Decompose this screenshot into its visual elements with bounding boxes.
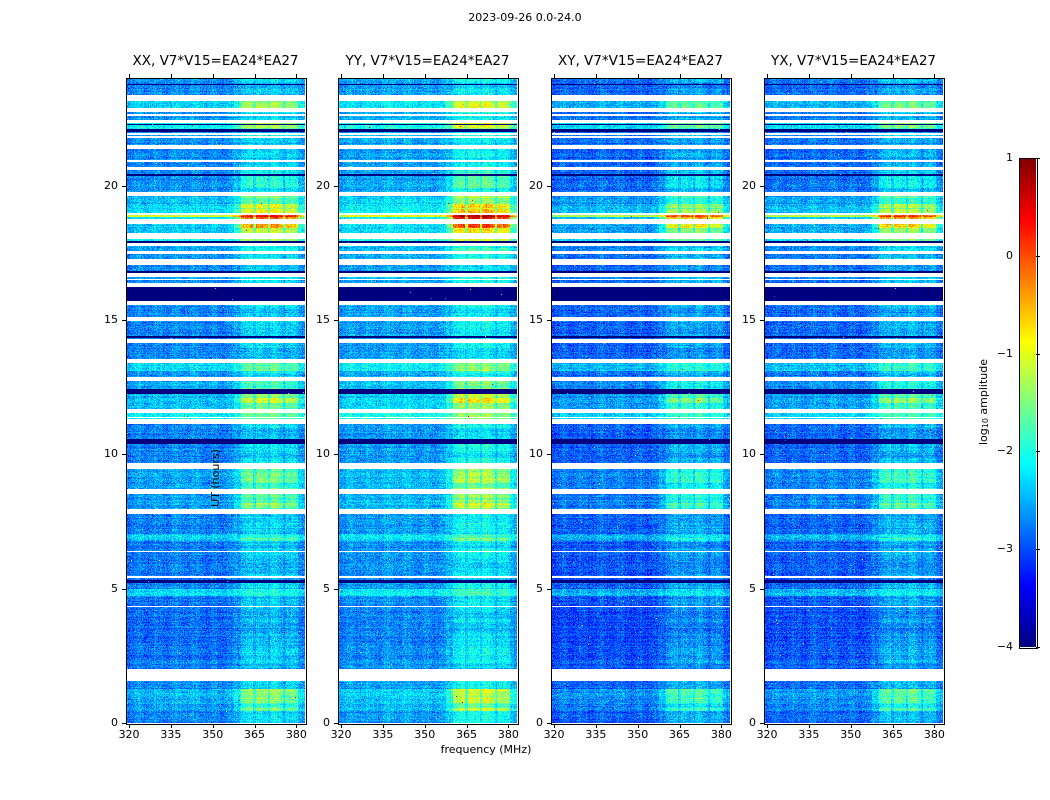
y-tick-mark [760,454,764,455]
colorbar-label-main: amplitude [977,359,990,415]
y-tick-mark [547,723,551,724]
y-tick-mark [760,723,764,724]
y-tick-mark [547,186,551,187]
y-tick-label: 20 [716,180,756,192]
x-tick-mark-top [851,74,852,78]
x-tick-mark-top [596,74,597,78]
x-tick-label: 380 [701,729,741,741]
panel-yy[interactable]: YY, V7*V15=EA24*EA27 3203353503653800510… [338,78,517,723]
x-tick-mark-top [767,74,768,78]
y-tick-mark [334,320,338,321]
colorbar-tick-mark [1036,158,1040,159]
colorbar-label-main-text [977,415,990,419]
y-tick-label: 5 [290,583,330,595]
x-tick-label: 365 [660,729,700,741]
y-tick-mark [122,454,126,455]
colorbar-tick-label: −3 [973,543,1013,555]
y-tick-mark [122,320,126,321]
y-tick-label: 15 [503,314,543,326]
x-tick-mark-top [296,74,297,78]
colorbar-tick-mark [1036,354,1040,355]
x-axis-label: frequency (MHz) [441,744,532,756]
colorbar-tick-label: 1 [973,152,1013,164]
x-tick-mark-top [934,74,935,78]
y-tick-label: 20 [503,180,543,192]
x-tick-mark-top [383,74,384,78]
y-tick-mark [760,186,764,187]
y-axis-label: UT (hours) [210,449,222,507]
y-tick-label: 5 [503,583,543,595]
x-tick-label: 320 [534,729,574,741]
colorbar-tick-label: −2 [973,445,1013,457]
x-tick-mark-top [255,74,256,78]
y-tick-mark [547,454,551,455]
colorbar[interactable]: 10−1−2−3−4 [1019,158,1036,647]
spectrogram-xx[interactable] [126,78,305,723]
y-tick-mark [122,723,126,724]
x-tick-label: 365 [447,729,487,741]
y-tick-label: 20 [78,180,118,192]
x-tick-label: 320 [321,729,361,741]
x-tick-label: 320 [747,729,787,741]
x-tick-mark-top [467,74,468,78]
y-tick-mark [760,320,764,321]
colorbar-tick-mark [1036,256,1040,257]
y-tick-mark [547,589,551,590]
y-tick-label: 0 [290,717,330,729]
y-tick-label: 15 [716,314,756,326]
colorbar-frame [1019,158,1038,649]
colorbar-tick-label: 0 [973,250,1013,262]
y-tick-label: 5 [716,583,756,595]
x-tick-label: 350 [618,729,658,741]
x-tick-label: 380 [914,729,954,741]
x-tick-label: 350 [405,729,445,741]
x-tick-label: 320 [109,729,149,741]
spectrogram-xy[interactable] [551,78,730,723]
x-tick-mark-top [638,74,639,78]
colorbar-tick-mark [1036,451,1040,452]
colorbar-tick-mark [1036,549,1040,550]
panel-yx[interactable]: YX, V7*V15=EA24*EA27 3203353503653800510… [764,78,943,723]
x-tick-mark-top [171,74,172,78]
x-tick-mark-top [213,74,214,78]
y-tick-label: 5 [78,583,118,595]
x-tick-label: 335 [363,729,403,741]
x-tick-mark-top [425,74,426,78]
y-tick-label: 10 [503,448,543,460]
y-tick-mark [334,723,338,724]
colorbar-label-prefix: log [977,428,990,445]
colorbar-tick-mark [1036,647,1040,648]
spectrogram-yy[interactable] [338,78,517,723]
panel-xy[interactable]: XY, V7*V15=EA24*EA27 3203353503653800510… [551,78,730,723]
x-tick-mark-top [554,74,555,78]
x-tick-mark-top [680,74,681,78]
x-tick-mark-top [508,74,509,78]
x-tick-label: 350 [831,729,871,741]
y-tick-mark [122,589,126,590]
x-tick-label: 335 [576,729,616,741]
colorbar-label-subscript: 10 [981,418,990,428]
figure-suptitle: 2023-09-26 0.0-24.0 [0,12,1050,24]
y-tick-mark [760,589,764,590]
y-tick-mark [547,320,551,321]
panel-xx[interactable]: XX, V7*V15=EA24*EA27 3203353503653800510… [126,78,305,723]
colorbar-label: log10 amplitude [978,359,992,445]
y-tick-mark [334,454,338,455]
y-tick-label: 0 [716,717,756,729]
y-tick-label: 15 [78,314,118,326]
x-tick-mark-top [809,74,810,78]
x-tick-mark-top [129,74,130,78]
spectrogram-yx[interactable] [764,78,943,723]
colorbar-tick-label: −1 [973,348,1013,360]
x-tick-label: 380 [276,729,316,741]
y-tick-mark [122,186,126,187]
y-tick-label: 0 [503,717,543,729]
y-tick-mark [334,186,338,187]
y-tick-label: 0 [78,717,118,729]
colorbar-tick-label: −4 [973,641,1013,653]
y-tick-label: 10 [78,448,118,460]
x-tick-mark-top [341,74,342,78]
x-tick-label: 350 [193,729,233,741]
x-tick-mark-top [893,74,894,78]
x-tick-label: 380 [488,729,528,741]
y-tick-label: 10 [290,448,330,460]
x-tick-label: 335 [151,729,191,741]
y-tick-mark [334,589,338,590]
y-tick-label: 10 [716,448,756,460]
panel-title-yx: YX, V7*V15=EA24*EA27 [724,54,983,69]
x-tick-label: 335 [789,729,829,741]
figure-canvas: 2023-09-26 0.0-24.0 XX, V7*V15=EA24*EA27… [0,0,1050,800]
x-tick-mark-top [721,74,722,78]
y-tick-label: 20 [290,180,330,192]
x-tick-label: 365 [873,729,913,741]
y-tick-label: 15 [290,314,330,326]
x-tick-label: 365 [235,729,275,741]
